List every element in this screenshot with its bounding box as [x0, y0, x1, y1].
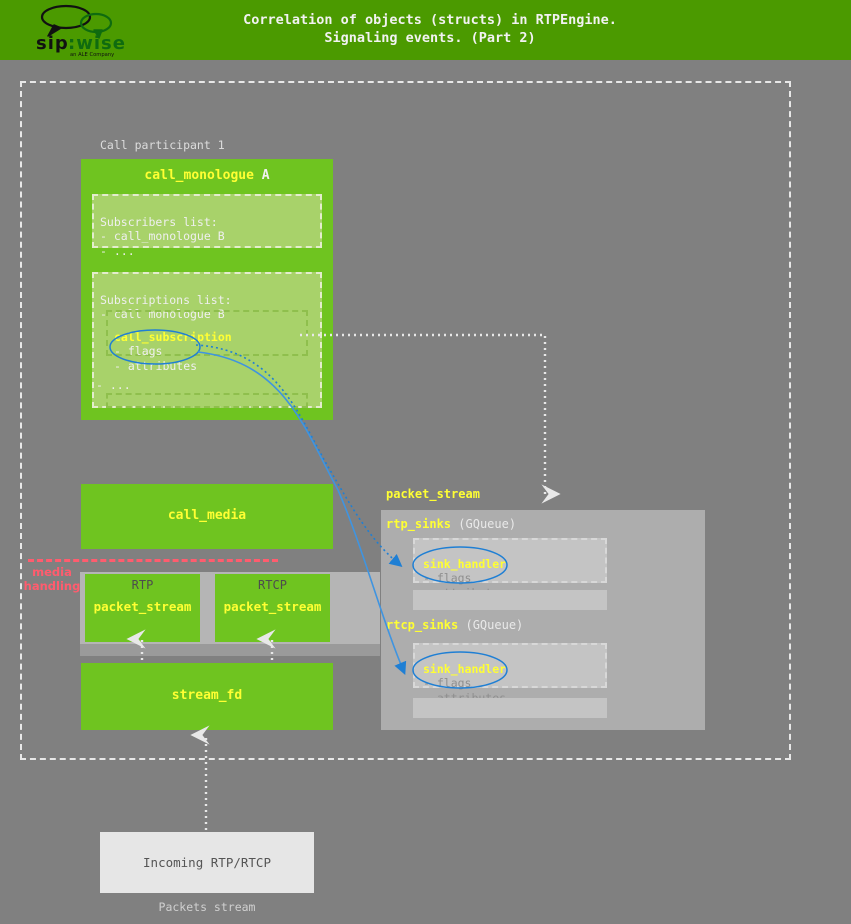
call-subscription-fields: - flags - attributes [114, 344, 197, 373]
stream-fd-box[interactable]: stream_fd [81, 663, 333, 730]
rtcp-sinks-heading: rtcp_sinks (GQueue) [386, 618, 523, 632]
media-handling-label: media handling [22, 565, 82, 593]
rtp-sink-empty-block[interactable] [413, 590, 607, 610]
rtcp-sinks-name: rtcp_sinks [386, 618, 458, 632]
rtp-packet-stream-box[interactable]: RTP packet_stream [85, 574, 200, 642]
call-monologue-title: call_monologue A [81, 168, 333, 183]
call-monologue-suffix: A [262, 168, 270, 183]
rtp-sinks-type: (GQueue) [458, 517, 516, 531]
app-header: sip :wise an ALE Company Correlation of … [0, 0, 851, 60]
call-subscription-empty-box[interactable] [106, 393, 308, 408]
rtcp-sinks-type: (GQueue) [465, 618, 523, 632]
rtcp-packet-stream-box[interactable]: RTCP packet_stream [215, 574, 330, 642]
subscribers-list-box[interactable]: Subscribers list: - call_monologue B - .… [92, 194, 322, 248]
subscribers-heading: Subscribers list: [100, 215, 218, 229]
rtp-protocol-label: RTP [85, 578, 200, 592]
rtp-sinks-name: rtp_sinks [386, 517, 451, 531]
page-title: Correlation of objects (structs) in RTPE… [150, 11, 710, 47]
rtp-sinks-heading: rtp_sinks (GQueue) [386, 517, 516, 531]
rtcp-protocol-label: RTCP [215, 578, 330, 592]
svg-text:an ALE Company: an ALE Company [70, 52, 114, 58]
logo-graphic: sip :wise an ALE Company [28, 4, 132, 58]
rtcp-struct-title: packet_stream [215, 599, 330, 614]
subscriptions-heading: Subscriptions list: [100, 293, 232, 307]
media-strip-shadow [80, 644, 380, 656]
rtcp-sink-empty-block[interactable] [413, 698, 607, 718]
stream-fd-title: stream_fd [81, 688, 333, 703]
rtcp-sink-handler-title: sink_handler [423, 662, 506, 676]
rtp-struct-title: packet_stream [85, 599, 200, 614]
rtp-sink-handler-title: sink_handler [423, 557, 506, 571]
svg-text::wise: :wise [68, 33, 126, 54]
call-subscription-box[interactable]: call_subscription - flags - attributes [106, 310, 308, 356]
media-handling-divider [28, 559, 278, 562]
svg-text:sip: sip [36, 33, 69, 54]
incoming-packets-box[interactable]: Incoming RTP/RTCP [100, 832, 314, 893]
packet-stream-panel-label: packet_stream [386, 487, 480, 501]
subscriptions-ellipsis: - ... [96, 378, 131, 392]
call-media-box[interactable]: call_media [81, 484, 333, 549]
rtcp-sink-handler-block[interactable]: sink_handler - flags - attributes [413, 643, 607, 688]
call-subscription-title: call_subscription [114, 330, 232, 344]
call-monologue-struct-name: call_monologue [144, 168, 254, 183]
sipwise-logo: sip :wise an ALE Company [28, 4, 132, 58]
call-media-title: call_media [81, 508, 333, 523]
call-participant-label: Call participant 1 [100, 138, 225, 152]
packets-stream-caption: Packets stream [100, 900, 314, 914]
rtp-sink-handler-block[interactable]: sink_handler - flags - attributes [413, 538, 607, 583]
